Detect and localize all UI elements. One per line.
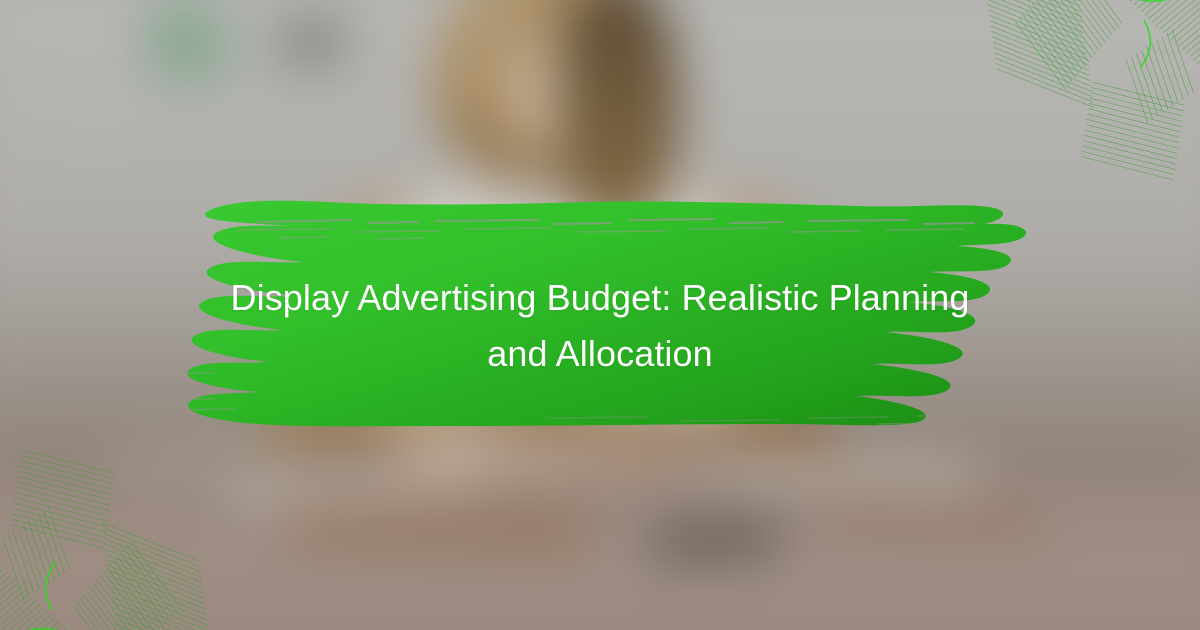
banner-title-line-1: Display Advertising Budget: Realistic Pl… — [231, 277, 970, 318]
featured-image-canvas: G H — [0, 0, 1200, 630]
banner-title: Display Advertising Budget: Realistic Pl… — [190, 270, 1010, 382]
banner-title-line-2: and Allocation — [487, 333, 713, 374]
